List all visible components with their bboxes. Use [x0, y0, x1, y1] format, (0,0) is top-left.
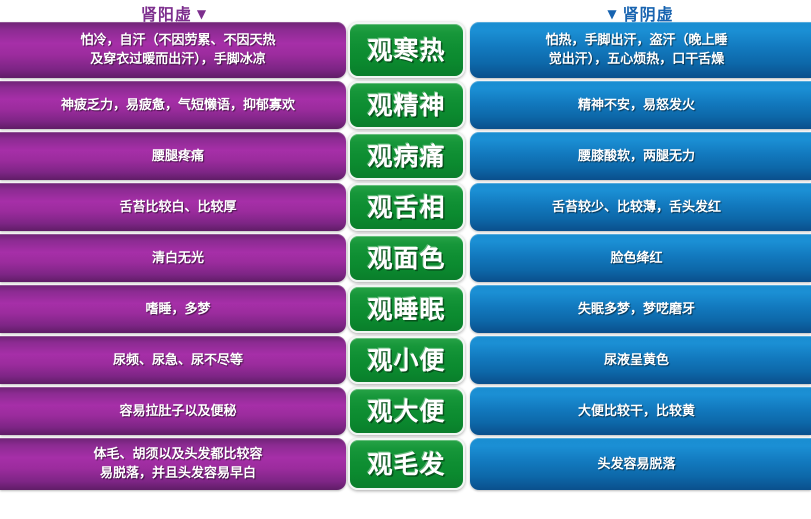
- category-badge-label: 观毛发: [350, 452, 463, 477]
- comparison-row: 舌苔比较白、比较厚观舌相舌苔较少、比较薄，舌头发红: [0, 183, 811, 231]
- yang-symptom-text: 体毛、胡须以及头发都比较容 易脱落，并且头发容易早白: [28, 445, 328, 483]
- yang-symptom-text: 嗜睡，多梦: [28, 300, 328, 319]
- yang-symptom-cell: 容易拉肚子以及便秘: [0, 387, 346, 435]
- category-badge-label: 观舌相: [350, 195, 463, 220]
- yin-symptom-cell: 大便比较干，比较黄: [470, 387, 811, 435]
- comparison-row: 容易拉肚子以及便秘观大便大便比较干，比较黄: [0, 387, 811, 435]
- yin-symptom-text: 脸色绛红: [488, 249, 785, 268]
- category-badge[interactable]: 观毛发: [348, 438, 465, 490]
- chevron-down-icon-left: ▼: [197, 7, 207, 21]
- comparison-chart: 肾阳虚▼ ▼肾阴虚 怕冷，自汗（不因劳累、不因天热 及穿衣过暖而出汗），手脚冰凉…: [0, 0, 811, 519]
- yang-symptom-cell: 尿频、尿急、尿不尽等: [0, 336, 346, 384]
- yang-symptom-text: 容易拉肚子以及便秘: [28, 402, 328, 421]
- yang-symptom-cell: 舌苔比较白、比较厚: [0, 183, 346, 231]
- category-badge[interactable]: 观舌相: [348, 183, 465, 231]
- yang-symptom-cell: 嗜睡，多梦: [0, 285, 346, 333]
- yin-symptom-text: 精神不安，易怒发火: [488, 96, 785, 115]
- comparison-row: 体毛、胡须以及头发都比较容 易脱落，并且头发容易早白观毛发头发容易脱落: [0, 438, 811, 490]
- comparison-row: 腰腿疼痛观病痛腰膝酸软，两腿无力: [0, 132, 811, 180]
- category-badge[interactable]: 观面色: [348, 234, 465, 282]
- comparison-row: 清白无光观面色脸色绛红: [0, 234, 811, 282]
- category-badge[interactable]: 观精神: [348, 81, 465, 129]
- category-badge[interactable]: 观睡眠: [348, 285, 465, 333]
- yin-symptom-text: 腰膝酸软，两腿无力: [488, 147, 785, 166]
- yin-symptom-cell: 失眠多梦，梦呓磨牙: [470, 285, 811, 333]
- yang-symptom-cell: 腰腿疼痛: [0, 132, 346, 180]
- yang-symptom-text: 神疲乏力，易疲惫，气短懒语，抑郁寡欢: [28, 96, 328, 115]
- category-badge[interactable]: 观病痛: [348, 132, 465, 180]
- yin-symptom-text: 失眠多梦，梦呓磨牙: [488, 300, 785, 319]
- yang-symptom-text: 尿频、尿急、尿不尽等: [28, 351, 328, 370]
- comparison-row: 怕冷，自汗（不因劳累、不因天热 及穿衣过暖而出汗），手脚冰凉观寒热怕热，手脚出汗…: [0, 22, 811, 78]
- category-badge-label: 观精神: [350, 93, 463, 118]
- chart-header: 肾阳虚▼ ▼肾阴虚: [0, 0, 811, 22]
- yin-symptom-cell: 脸色绛红: [470, 234, 811, 282]
- yang-symptom-text: 清白无光: [28, 249, 328, 268]
- yin-symptom-cell: 头发容易脱落: [470, 438, 811, 490]
- yin-symptom-cell: 怕热，手脚出汗，盗汗（晚上睡 觉出汗），五心烦热，口干舌燥: [470, 22, 811, 78]
- comparison-rows: 怕冷，自汗（不因劳累、不因天热 及穿衣过暖而出汗），手脚冰凉观寒热怕热，手脚出汗…: [0, 22, 811, 493]
- yin-symptom-text: 怕热，手脚出汗，盗汗（晚上睡 觉出汗），五心烦热，口干舌燥: [488, 31, 785, 69]
- yin-symptom-text: 舌苔较少、比较薄，舌头发红: [488, 198, 785, 217]
- yin-symptom-cell: 舌苔较少、比较薄，舌头发红: [470, 183, 811, 231]
- category-badge[interactable]: 观寒热: [348, 22, 465, 78]
- yin-symptom-text: 尿液呈黄色: [488, 351, 785, 370]
- category-badge-label: 观小便: [350, 348, 463, 373]
- comparison-row: 嗜睡，多梦观睡眠失眠多梦，梦呓磨牙: [0, 285, 811, 333]
- category-badge-label: 观面色: [350, 246, 463, 271]
- yin-symptom-cell: 尿液呈黄色: [470, 336, 811, 384]
- chevron-down-icon-right: ▼: [607, 7, 617, 21]
- category-badge[interactable]: 观大便: [348, 387, 465, 435]
- yang-symptom-cell: 清白无光: [0, 234, 346, 282]
- yin-symptom-cell: 精神不安，易怒发火: [470, 81, 811, 129]
- yang-symptom-cell: 怕冷，自汗（不因劳累、不因天热 及穿衣过暖而出汗），手脚冰凉: [0, 22, 346, 78]
- category-badge-label: 观大便: [350, 399, 463, 424]
- category-badge-label: 观寒热: [350, 38, 463, 63]
- yin-symptom-text: 头发容易脱落: [488, 455, 785, 474]
- yang-symptom-text: 舌苔比较白、比较厚: [28, 198, 328, 217]
- category-badge[interactable]: 观小便: [348, 336, 465, 384]
- comparison-row: 尿频、尿急、尿不尽等观小便尿液呈黄色: [0, 336, 811, 384]
- yin-symptom-cell: 腰膝酸软，两腿无力: [470, 132, 811, 180]
- yang-symptom-cell: 神疲乏力，易疲惫，气短懒语，抑郁寡欢: [0, 81, 346, 129]
- category-badge-label: 观睡眠: [350, 297, 463, 322]
- yang-symptom-cell: 体毛、胡须以及头发都比较容 易脱落，并且头发容易早白: [0, 438, 346, 490]
- yang-symptom-text: 怕冷，自汗（不因劳累、不因天热 及穿衣过暖而出汗），手脚冰凉: [28, 31, 328, 69]
- comparison-row: 神疲乏力，易疲惫，气短懒语，抑郁寡欢观精神精神不安，易怒发火: [0, 81, 811, 129]
- category-badge-label: 观病痛: [350, 144, 463, 169]
- yin-symptom-text: 大便比较干，比较黄: [488, 402, 785, 421]
- yang-symptom-text: 腰腿疼痛: [28, 147, 328, 166]
